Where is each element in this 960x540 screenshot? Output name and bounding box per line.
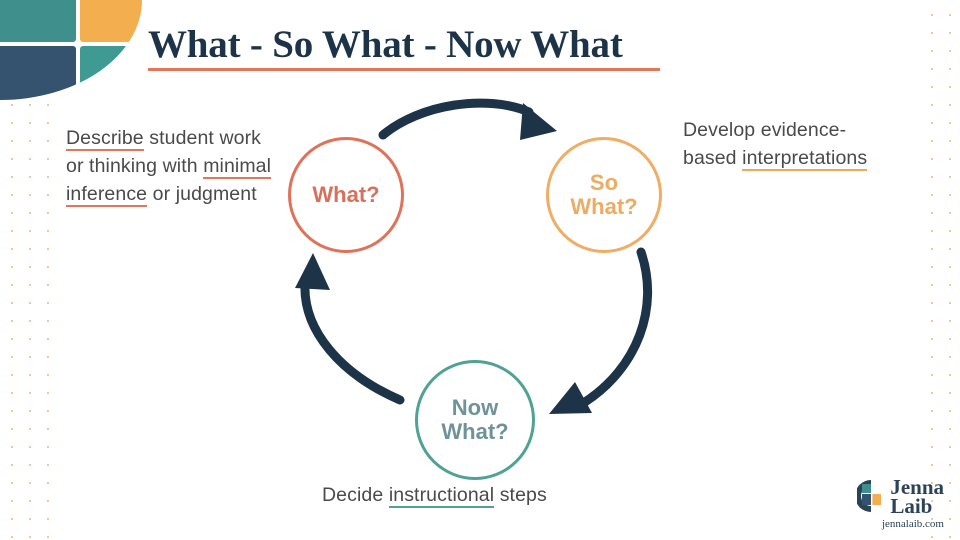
annotation-right-emphasis-1: interpretations — [742, 147, 867, 171]
brand-mark-icon — [857, 478, 887, 516]
annotation-bottom-text-1: Decide — [322, 484, 389, 506]
cycle-node-now-what-label: Now What? — [441, 396, 508, 444]
dot-grid-right — [920, 0, 960, 540]
cycle-node-now-what-label-line2: What? — [441, 419, 508, 444]
annotation-bottom: Decide instructional steps — [322, 481, 642, 509]
cycle-node-now-what-label-line1: Now — [452, 395, 498, 420]
slide-canvas: What - So What - Now What What? So What? — [0, 0, 960, 540]
annotation-bottom-emphasis-1: instructional — [389, 484, 494, 508]
brand-logo-row: Jenna Laib — [857, 478, 944, 516]
corner-quadrant-icon — [0, 0, 142, 100]
cycle-node-so-what[interactable]: So What? — [546, 137, 662, 253]
annotation-left: Describe student work or thinking with m… — [66, 124, 276, 208]
arrow-what-to-so-what — [383, 103, 557, 140]
cycle-node-what-label: What? — [312, 183, 379, 207]
title-underline-rule — [148, 68, 660, 71]
annotation-bottom-text-2: steps — [494, 484, 547, 506]
annotation-left-emphasis-1: Describe — [66, 127, 144, 151]
cycle-node-now-what[interactable]: Now What? — [415, 360, 535, 480]
cycle-node-so-what-label: So What? — [570, 171, 637, 219]
arrow-so-what-to-now-what — [549, 252, 648, 414]
cycle-node-so-what-label-line2: What? — [570, 194, 637, 219]
cycle-node-so-what-label-line1: So — [590, 170, 618, 195]
arrow-now-what-to-what — [295, 253, 400, 400]
annotation-left-text-2: or judgment — [147, 183, 257, 205]
brand-logo: Jenna Laib jennalaib.com — [857, 478, 944, 530]
cycle-node-what[interactable]: What? — [288, 137, 404, 253]
brand-url: jennalaib.com — [882, 518, 944, 530]
title-block: What - So What - Now What — [148, 24, 660, 71]
page-title: What - So What - Now What — [148, 24, 660, 66]
brand-name-line2: Laib — [890, 497, 944, 516]
annotation-right: Develop evidence-based interpretations — [683, 116, 888, 172]
corner-quadrant-logo — [0, 0, 142, 100]
brand-name: Jenna Laib — [890, 478, 944, 516]
